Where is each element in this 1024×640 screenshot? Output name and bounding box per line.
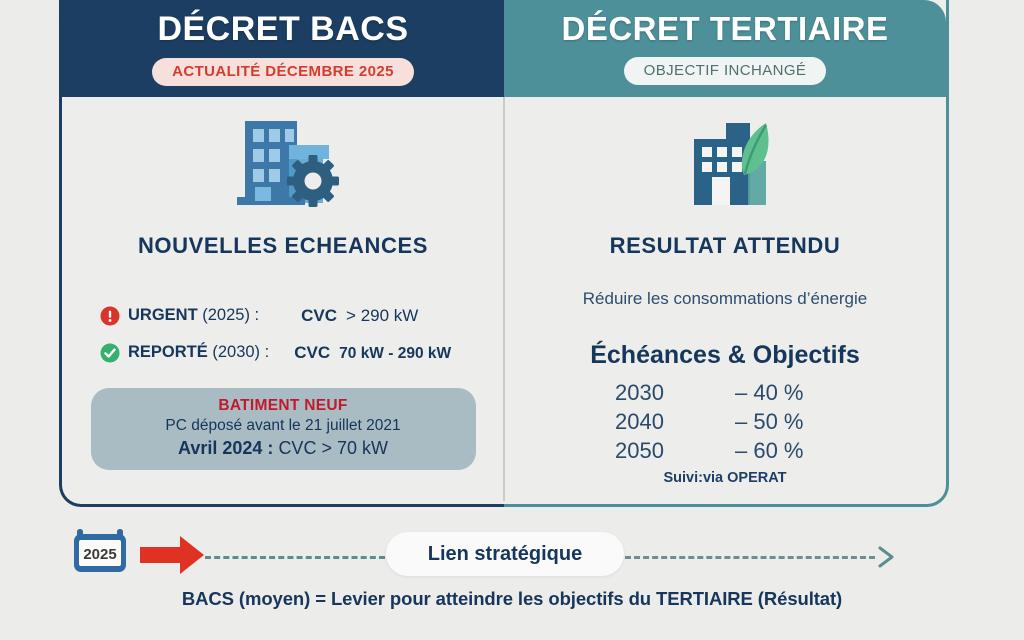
echeance-label-reporte: REPORTÉ (2030) : xyxy=(128,343,269,362)
right-section-title: RESULTAT ATTENDU xyxy=(610,233,841,259)
lien-strategique-pill: Lien stratégique xyxy=(386,532,624,576)
alert-circle-icon xyxy=(100,306,128,326)
echeance-value-reporte: CVC 70 kW - 290 kW xyxy=(294,343,451,363)
panel-decret-bacs: DÉCRET BACS ACTUALITÉ DÉCEMBRE 2025 xyxy=(59,0,504,507)
dashed-connector-right xyxy=(625,556,875,559)
batiment-neuf-line3: Avril 2024 : CVC > 70 kW xyxy=(101,438,466,459)
bottom-caption: BACS (moyen) = Levier pour atteindre les… xyxy=(0,588,1024,610)
building-leaf-icon xyxy=(670,113,780,217)
check-circle-icon xyxy=(100,343,128,363)
panel-decret-tertiaire: DÉCRET TERTIAIRE OBJECTIF INCHANGÉ xyxy=(504,0,949,507)
table-row: 2050 – 60 % xyxy=(615,438,835,467)
right-panel-badge: OBJECTIF INCHANGÉ xyxy=(624,57,827,85)
lien-strategique-label: Lien stratégique xyxy=(428,543,582,566)
batiment-neuf-box: BATIMENT NEUF PC déposé avant le 21 juil… xyxy=(91,388,476,470)
left-panel-badge: ACTUALITÉ DÉCEMBRE 2025 xyxy=(152,58,414,86)
building-gear-icon xyxy=(225,113,341,217)
operat-footnote: Suivi:via OPERAT xyxy=(615,470,835,486)
echeance-label-urgent: URGENT (2025) : xyxy=(128,306,259,325)
left-section-title: NOUVELLES ECHEANCES xyxy=(138,233,428,259)
objectifs-table-title: Échéances & Objectifs xyxy=(590,341,860,370)
echeance-row-reporte: REPORTÉ (2030) : CVC 70 kW - 290 kW xyxy=(100,334,504,371)
table-row: 2030 – 40 % xyxy=(615,380,835,409)
arrow-right-icon xyxy=(140,534,206,581)
chevron-right-icon xyxy=(876,545,898,574)
echeances-list: URGENT (2025) : CVC > 290 kW xyxy=(62,297,504,371)
calendar-year-label: 2025 xyxy=(83,546,116,563)
batiment-neuf-line2: PC déposé avant le 21 juillet 2021 xyxy=(101,417,466,435)
batiment-neuf-title: BATIMENT NEUF xyxy=(101,397,466,415)
comparison-card: DÉCRET BACS ACTUALITÉ DÉCEMBRE 2025 xyxy=(59,0,949,507)
panel-divider xyxy=(503,97,505,501)
dashed-connector-left xyxy=(205,556,385,559)
left-panel-header: DÉCRET BACS ACTUALITÉ DÉCEMBRE 2025 xyxy=(62,0,504,97)
right-subtitle: Réduire les consommations d’énergie xyxy=(583,289,867,309)
echeance-value-urgent: CVC > 290 kW xyxy=(301,306,418,326)
bottom-strip: 2025 Lien stratégique xyxy=(0,512,1024,582)
right-panel-header: DÉCRET TERTIAIRE OBJECTIF INCHANGÉ xyxy=(504,0,946,97)
left-panel-title: DÉCRET BACS xyxy=(157,10,408,49)
infographic-stage: DÉCRET BACS ACTUALITÉ DÉCEMBRE 2025 xyxy=(0,0,1024,640)
echeance-row-urgent: URGENT (2025) : CVC > 290 kW xyxy=(100,297,504,334)
right-panel-title: DÉCRET TERTIAIRE xyxy=(561,10,888,48)
objectifs-table: 2030 – 40 % 2040 – 50 % 2050 – 60 % Suiv… xyxy=(615,380,835,486)
calendar-icon: 2025 xyxy=(72,526,128,574)
table-row: 2040 – 50 % xyxy=(615,409,835,438)
